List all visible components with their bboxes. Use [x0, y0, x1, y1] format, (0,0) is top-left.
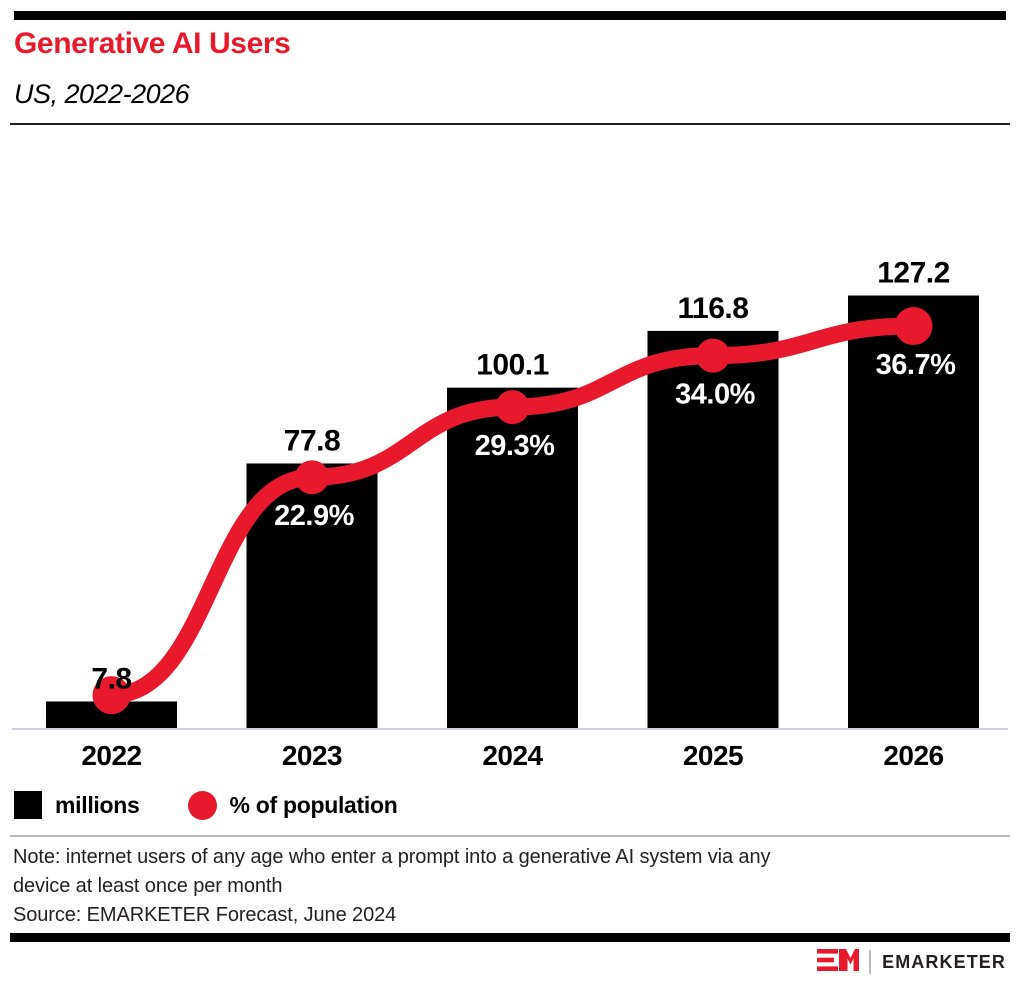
legend-item-percent: % of population: [188, 791, 398, 820]
footer-bottom-rule: [10, 933, 1010, 942]
em-logo-icon: [817, 949, 859, 976]
bar-value-label: 100.1: [476, 349, 549, 382]
bar-value-label: 7.8: [91, 662, 131, 695]
source-line: Source: EMARKETER Forecast, June 2024: [13, 901, 1003, 930]
x-tick-label: 2023: [247, 740, 378, 772]
note-line-1: Note: internet users of any age who ente…: [13, 843, 1003, 872]
brand-lockup: EMARKETER: [817, 948, 1006, 976]
x-tick-label: 2026: [848, 740, 979, 772]
legend-label-millions: millions: [55, 792, 140, 819]
chart-plot-area: 7.877.8100.1116.8127.2 22.9%29.3%34.0%36…: [0, 140, 1020, 740]
chart-legend: millions % of population: [14, 788, 445, 822]
footer-notes: Note: internet users of any age who ente…: [13, 843, 1003, 930]
line-value-label: 29.3%: [475, 430, 555, 462]
page-title: Generative AI Users: [14, 26, 290, 62]
header-top-rule: [14, 11, 1006, 20]
x-axis-tick-labels: 20222023202420252026: [0, 740, 1020, 780]
line-value-label: 22.9%: [274, 500, 354, 532]
brand-name: EMARKETER: [882, 952, 1006, 973]
x-tick-label: 2024: [447, 740, 578, 772]
x-axis-baseline: [12, 728, 1008, 730]
brand-divider: [869, 950, 871, 974]
legend-square-icon: [14, 791, 42, 819]
x-tick-label: 2025: [648, 740, 779, 772]
combo-bar-line-chart: 7.877.8100.1116.8127.2 22.9%29.3%34.0%36…: [0, 140, 1020, 740]
line-marker: [696, 339, 730, 373]
legend-label-percent: % of population: [230, 792, 398, 819]
note-line-2: device at least once per month: [13, 872, 1003, 901]
line-value-label: 36.7%: [876, 349, 956, 381]
legend-item-millions: millions: [14, 791, 140, 819]
line-marker: [295, 460, 329, 494]
legend-divider-rule: [10, 835, 1010, 837]
line-value-label: 34.0%: [675, 379, 755, 411]
line-marker: [895, 307, 933, 345]
bar-value-label: 116.8: [678, 292, 749, 325]
page-subtitle: US, 2022-2026: [14, 78, 189, 110]
header-divider-rule: [10, 123, 1010, 125]
bar-value-label: 127.2: [877, 257, 950, 290]
bar-value-label: 77.8: [284, 424, 340, 457]
x-tick-label: 2022: [46, 740, 177, 772]
line-marker: [496, 390, 530, 424]
legend-circle-icon: [188, 791, 217, 820]
chart-page: Generative AI Users US, 2022-2026 7.877.…: [0, 0, 1020, 984]
